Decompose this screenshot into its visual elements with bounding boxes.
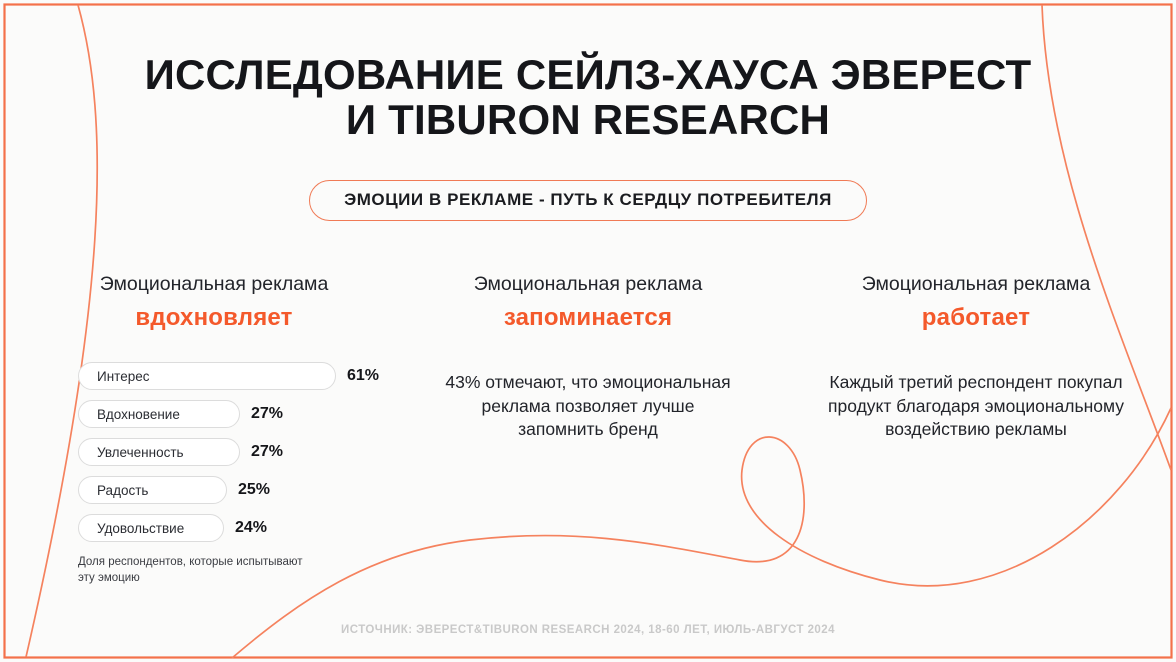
emotion-bar-chart: Интерес 61% Вдохновение 27% Увлеченность <box>78 362 400 542</box>
bar-row: Интерес 61% <box>78 362 400 390</box>
infographic-slide: ИССЛЕДОВАНИЕ СЕЙЛЗ-ХАУСА ЭВЕРЕСТ И TIBUR… <box>0 0 1176 662</box>
column-inspires: Эмоциональная реклама вдохновляет Интере… <box>0 272 400 586</box>
title-line-1: ИССЛЕДОВАНИЕ СЕЙЛЗ-ХАУСА ЭВЕРЕСТ <box>145 51 1032 98</box>
column-2-accent-word: запоминается <box>433 303 743 333</box>
bar-track: Радость <box>78 476 227 504</box>
bar-label: Увлеченность <box>97 445 184 460</box>
subtitle-pill: ЭМОЦИИ В РЕКЛАМЕ - ПУТЬ К СЕРДЦУ ПОТРЕБИ… <box>309 180 867 221</box>
bar-row: Удовольствие 24% <box>78 514 400 542</box>
column-1-heading-text: Эмоциональная реклама <box>100 273 329 295</box>
bar-row: Радость 25% <box>78 476 400 504</box>
bar-track: Интерес <box>78 362 336 390</box>
column-1-heading: Эмоциональная реклама вдохновляет <box>78 272 350 333</box>
columns-container: Эмоциональная реклама вдохновляет Интере… <box>0 272 1176 586</box>
column-2-heading-text: Эмоциональная реклама <box>474 273 703 295</box>
column-1-accent-word: вдохновляет <box>78 303 350 333</box>
source-footnote: ИСТОЧНИК: ЭВЕРЕСТ&TIBURON RESEARCH 2024,… <box>0 624 1176 636</box>
column-2-body: 43% отмечают, что эмоциональная реклама … <box>438 371 738 441</box>
bar-label: Удовольствие <box>97 521 184 536</box>
bar-track: Вдохновение <box>78 400 240 428</box>
column-2-heading: Эмоциональная реклама запоминается <box>433 272 743 333</box>
column-3-heading-text: Эмоциональная реклама <box>862 273 1091 295</box>
bar-row: Вдохновение 27% <box>78 400 400 428</box>
bar-value: 25% <box>238 481 270 499</box>
title-line-2: И TIBURON RESEARCH <box>0 97 1176 142</box>
chart-note: Доля респондентов, которые испытывают эт… <box>78 555 308 586</box>
subtitle-container: ЭМОЦИИ В РЕКЛАМЕ - ПУТЬ К СЕРДЦУ ПОТРЕБИ… <box>0 180 1176 221</box>
bar-label: Радость <box>97 483 148 498</box>
bar-row: Увлеченность 27% <box>78 438 400 466</box>
bar-label: Интерес <box>97 369 149 384</box>
column-3-body: Каждый третий респондент покупал продукт… <box>821 371 1131 441</box>
bar-label: Вдохновение <box>97 407 180 422</box>
column-3-accent-word: работает <box>826 303 1126 333</box>
bar-value: 27% <box>251 443 283 461</box>
bar-track: Удовольствие <box>78 514 224 542</box>
bar-value: 27% <box>251 405 283 423</box>
column-works: Эмоциональная реклама работает Каждый тр… <box>776 272 1176 586</box>
column-3-heading: Эмоциональная реклама работает <box>826 272 1126 333</box>
bar-value: 24% <box>235 519 267 537</box>
page-title: ИССЛЕДОВАНИЕ СЕЙЛЗ-ХАУСА ЭВЕРЕСТ И TIBUR… <box>0 52 1176 143</box>
column-memorable: Эмоциональная реклама запоминается 43% о… <box>400 272 776 586</box>
bar-value: 61% <box>347 367 379 385</box>
bar-track: Увлеченность <box>78 438 240 466</box>
